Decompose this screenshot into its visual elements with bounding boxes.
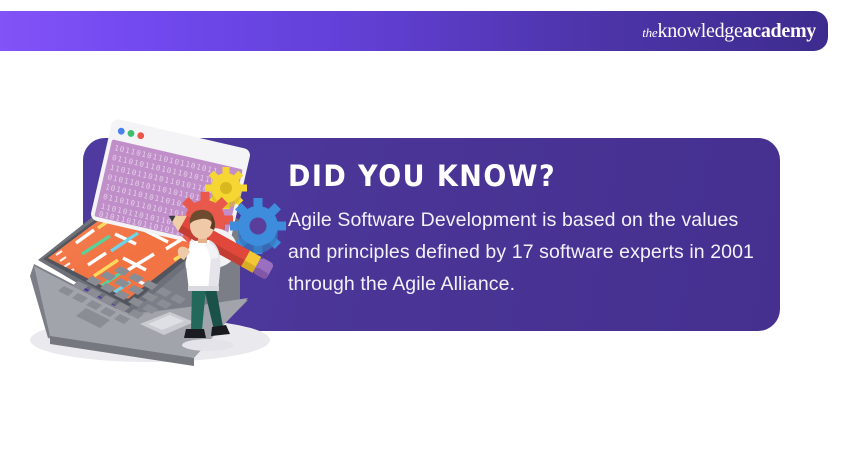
brand-logo-primary: knowledge (658, 20, 743, 42)
person-shoe-front (184, 329, 206, 338)
brand-logo-accent: academy (743, 20, 816, 42)
card-body-text: Agile Software Development is based on t… (288, 204, 758, 300)
header-bar: theknowledgeacademy (0, 11, 828, 51)
card-heading: DID YOU KNOW? (288, 159, 556, 193)
brand-logo-prefix: the (642, 25, 657, 40)
illustration-laptop-developer: 1011010110101101011 0110101101011010110 … (18, 108, 318, 370)
brand-logo[interactable]: theknowledgeacademy (642, 21, 816, 41)
person-shadow (182, 339, 234, 351)
person-belt (188, 286, 219, 291)
